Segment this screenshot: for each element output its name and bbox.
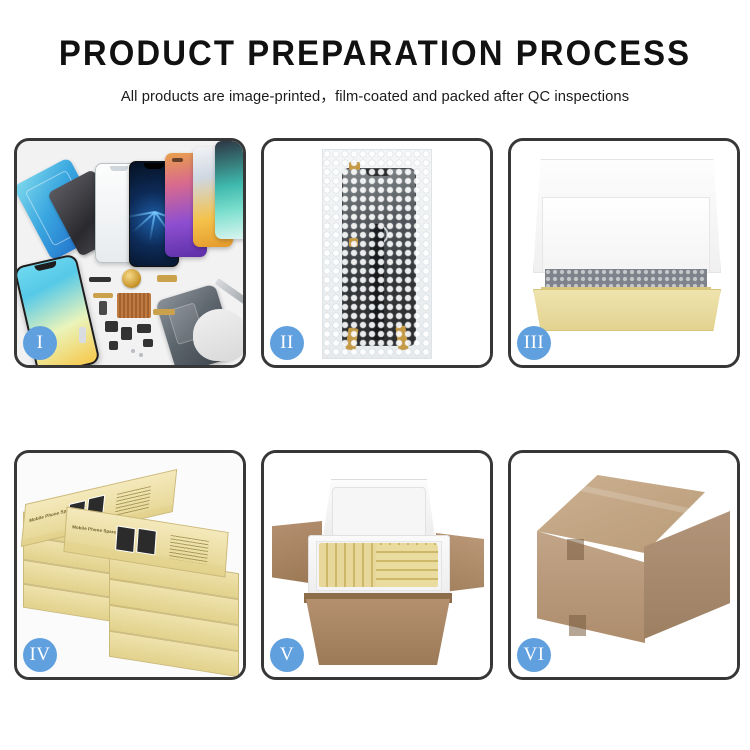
small-part <box>109 341 118 350</box>
box-lid-inner <box>542 197 710 273</box>
process-step-6: VI <box>508 450 740 680</box>
process-step-3: III <box>508 138 740 368</box>
flex-cable-part <box>153 309 175 315</box>
step-badge-4: IV <box>23 638 57 672</box>
logic-board-part <box>117 293 151 318</box>
product-image-swatch <box>115 525 136 553</box>
process-step-2: II <box>261 138 493 368</box>
process-step-1: I <box>14 138 246 368</box>
box-base-kraft <box>533 289 721 331</box>
carton-front-wall <box>306 599 450 665</box>
flex-cable-part <box>157 275 177 282</box>
step-badge-6: VI <box>517 638 551 672</box>
small-part <box>121 327 132 340</box>
small-part <box>143 339 153 347</box>
foam-lid-inner <box>332 487 426 537</box>
speaker-coil-part <box>122 269 141 288</box>
product-preparation-infographic: PRODUCT PREPARATION PROCESS All products… <box>0 0 750 750</box>
product-image-swatch <box>136 528 157 556</box>
hand <box>193 309 243 361</box>
carton-tape-patch <box>569 615 586 636</box>
step-badge-2: II <box>270 326 304 360</box>
header: PRODUCT PREPARATION PROCESS All products… <box>0 36 750 106</box>
screw-part <box>139 353 143 357</box>
small-part <box>89 277 111 282</box>
box-stack: Mobile Phone Spare Parts Mobile Phone Sp… <box>23 477 243 673</box>
notch-icon <box>110 166 128 171</box>
punch-hole-icon <box>172 158 183 162</box>
small-part <box>99 301 107 315</box>
page-title: PRODUCT PREPARATION PROCESS <box>23 36 728 73</box>
page-subtitle: All products are image-printed，film-coat… <box>11 84 739 106</box>
notch-icon <box>34 261 57 272</box>
step-badge-5: V <box>270 638 304 672</box>
bubble-texture <box>323 150 431 358</box>
process-step-grid: I II <box>14 138 740 680</box>
bubble-wrap-bag <box>322 149 432 359</box>
small-part <box>105 321 118 332</box>
small-part <box>137 324 151 333</box>
carton-tape-patch <box>567 539 584 560</box>
kraft-boxes-row <box>376 545 438 587</box>
screw-part <box>131 349 135 353</box>
flex-cable-part <box>93 293 113 298</box>
process-step-5: V <box>261 450 493 680</box>
sim-tray-part <box>79 327 86 343</box>
box-spec-lines <box>169 535 209 565</box>
process-step-4: Mobile Phone Spare Parts Mobile Phone Sp… <box>14 450 246 680</box>
phone-display-teal <box>215 141 243 239</box>
notch-icon <box>144 163 164 169</box>
step-badge-1: I <box>23 326 57 360</box>
step-badge-3: III <box>517 326 551 360</box>
